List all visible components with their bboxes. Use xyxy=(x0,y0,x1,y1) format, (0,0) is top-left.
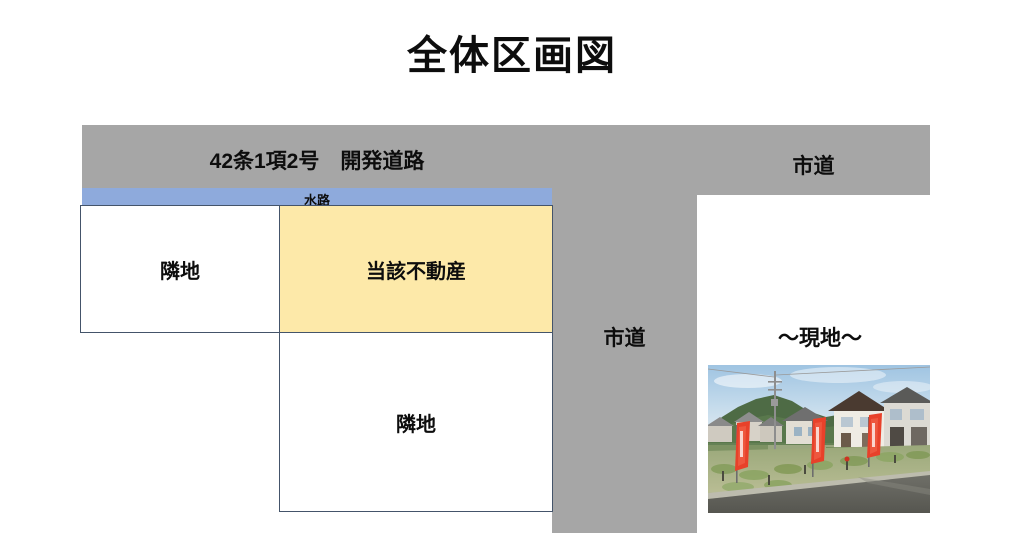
diagram-canvas: 全体区画図 42条1項2号 開発道路 市道 市道 水路 隣地 当該不動産 隣地 … xyxy=(0,0,1024,554)
site-photo xyxy=(708,365,930,513)
parcel-neighbor-left-label: 隣地 xyxy=(160,255,200,284)
city-road-side-label: 市道 xyxy=(552,322,697,352)
city-road-top-label: 市道 xyxy=(697,150,930,180)
parcel-subject-property-label: 当該不動産 xyxy=(366,255,466,284)
page-title: 全体区画図 xyxy=(0,34,1024,78)
parcel-neighbor-bottom: 隣地 xyxy=(279,332,553,512)
site-photo-caption: 〜現地〜 xyxy=(700,322,940,352)
site-photo-illustration xyxy=(708,365,930,513)
parcel-neighbor-left: 隣地 xyxy=(80,205,280,333)
parcel-subject-property: 当該不動産 xyxy=(279,205,553,333)
parcel-neighbor-bottom-label: 隣地 xyxy=(396,408,436,437)
development-road-label: 42条1項2号 開発道路 xyxy=(82,145,552,175)
